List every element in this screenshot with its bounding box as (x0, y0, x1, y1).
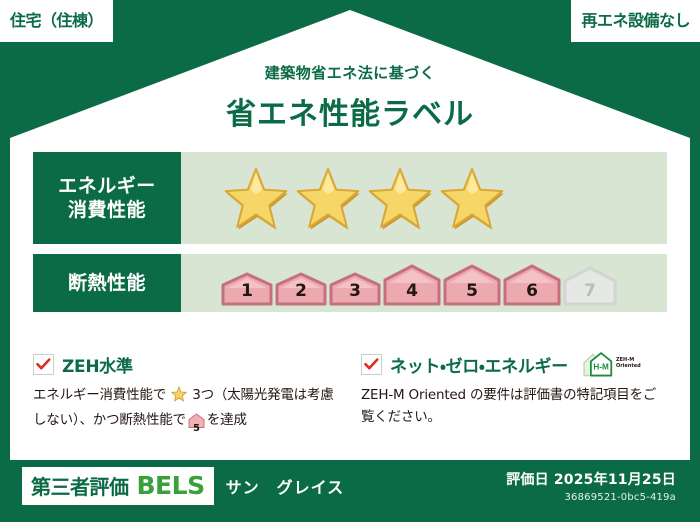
thermal-performance-value: 1234567 (181, 254, 667, 312)
grade-badge-number: 5 (443, 283, 501, 300)
energy-performance-value (181, 152, 667, 244)
note-zeh-level-body: エネルギー消費性能で 3つ（太陽光発電は考慮しない）、かつ断熱性能で 5 を達成 (33, 385, 339, 436)
note-zeh-level-header: ZEH水準 (33, 352, 339, 376)
grade-badge: 3 (329, 272, 381, 306)
zeh-logo-caption-line2: Oriented (616, 363, 641, 369)
page-title: 省エネ性能ラベル (0, 89, 700, 133)
star-rating-strip (201, 165, 505, 231)
grade-badge-number: 2 (275, 283, 327, 300)
grade-badge-number: 1 (221, 283, 273, 300)
label-title-block: 建築物省エネ法に基づく 省エネ性能ラベル (0, 62, 700, 133)
energy-performance-row: エネルギー 消費性能 (33, 152, 667, 244)
inline-grade-badge: 5 (188, 413, 205, 436)
grade-badge: 1 (221, 272, 273, 306)
zeh-logo-caption: ZEH-M Oriented (616, 358, 641, 370)
note-zeh-body-part1: エネルギー消費性能で (33, 387, 166, 403)
grade-badge-number: 6 (503, 283, 561, 300)
thermal-label-line1: 断熱性能 (68, 271, 146, 295)
zeh-m-oriented-logo-icon: H-M ZEH-M Oriented (580, 351, 641, 377)
note-net-zero-body: ZEH-M Oriented の要件は評価書の特記項目をご覧ください。 (361, 385, 667, 429)
energy-performance-label-box: エネルギー 消費性能 (33, 152, 181, 244)
grade-badge: 5 (443, 264, 501, 306)
energy-label-line1: エネルギー (58, 174, 156, 198)
star-icon (439, 165, 505, 231)
star-icon (367, 165, 433, 231)
footer-right-group: 評価日 2025年11月25日 36869521-0bc5-419a (506, 469, 676, 503)
note-zeh-level-title: ZEH水準 (62, 352, 133, 377)
energy-performance-label: 住宅（住棟） 再エネ設備なし 建築物省エネ法に基づく 省エネ性能ラベル エネルギ… (0, 0, 700, 522)
grade-badge-number: 7 (563, 283, 617, 300)
energy-label-line2: 消費性能 (68, 198, 146, 222)
grade-badge: 2 (275, 272, 327, 306)
grade-badge: 6 (503, 264, 561, 306)
star-icon (295, 165, 361, 231)
svg-text:H-M: H-M (593, 362, 609, 371)
note-net-zero-energy: ネット・ゼロ・エネルギー H-M ZEH-M Oriented ZEH-M Or… (361, 352, 667, 436)
grade-badge-number: 3 (329, 283, 381, 300)
note-zeh-body-part3: を達成 (207, 412, 247, 428)
bels-certification-badge: 第三者評価 BELS (22, 467, 214, 505)
thermal-performance-row: 断熱性能 1234567 (33, 254, 667, 312)
title-subtitle: 建築物省エネ法に基づく (0, 62, 700, 83)
inline-grade-badge-number: 5 (188, 424, 205, 434)
inline-star-icon (167, 390, 191, 406)
evaluation-date: 評価日 2025年11月25日 (506, 469, 676, 489)
note-zeh-level: ZEH水準 エネルギー消費性能で 3つ（太陽光発電は考慮しない）、かつ断熱性能で… (33, 352, 339, 436)
notes-section: ZEH水準 エネルギー消費性能で 3つ（太陽光発電は考慮しない）、かつ断熱性能で… (33, 352, 673, 436)
evaluation-id: 36869521-0bc5-419a (506, 492, 676, 503)
grade-badge-strip: 1234567 (201, 254, 617, 312)
checked-checkbox-icon (361, 354, 382, 375)
label-footer: 第三者評価 BELS サン グレイス 評価日 2025年11月25日 36869… (10, 460, 690, 512)
building-name: サン グレイス (226, 474, 345, 498)
renewable-energy-tag: 再エネ設備なし (571, 0, 700, 42)
star-icon (223, 165, 289, 231)
note-net-zero-header: ネット・ゼロ・エネルギー H-M ZEH-M Oriented (361, 352, 667, 376)
note-net-zero-title: ネット・ゼロ・エネルギー (390, 352, 568, 377)
bels-logo-text: BELS (137, 471, 205, 500)
building-type-tag: 住宅（住棟） (0, 0, 113, 42)
third-party-evaluation-label: 第三者評価 (31, 471, 129, 500)
grade-badge-number: 4 (383, 283, 441, 300)
grade-badge: 4 (383, 264, 441, 306)
thermal-performance-label-box: 断熱性能 (33, 254, 181, 312)
grade-badge: 7 (563, 266, 617, 306)
footer-left-group: 第三者評価 BELS サン グレイス (22, 467, 344, 505)
checked-checkbox-icon (33, 354, 54, 375)
ratings-section: エネルギー 消費性能 断熱性能 1234567 (33, 152, 667, 322)
